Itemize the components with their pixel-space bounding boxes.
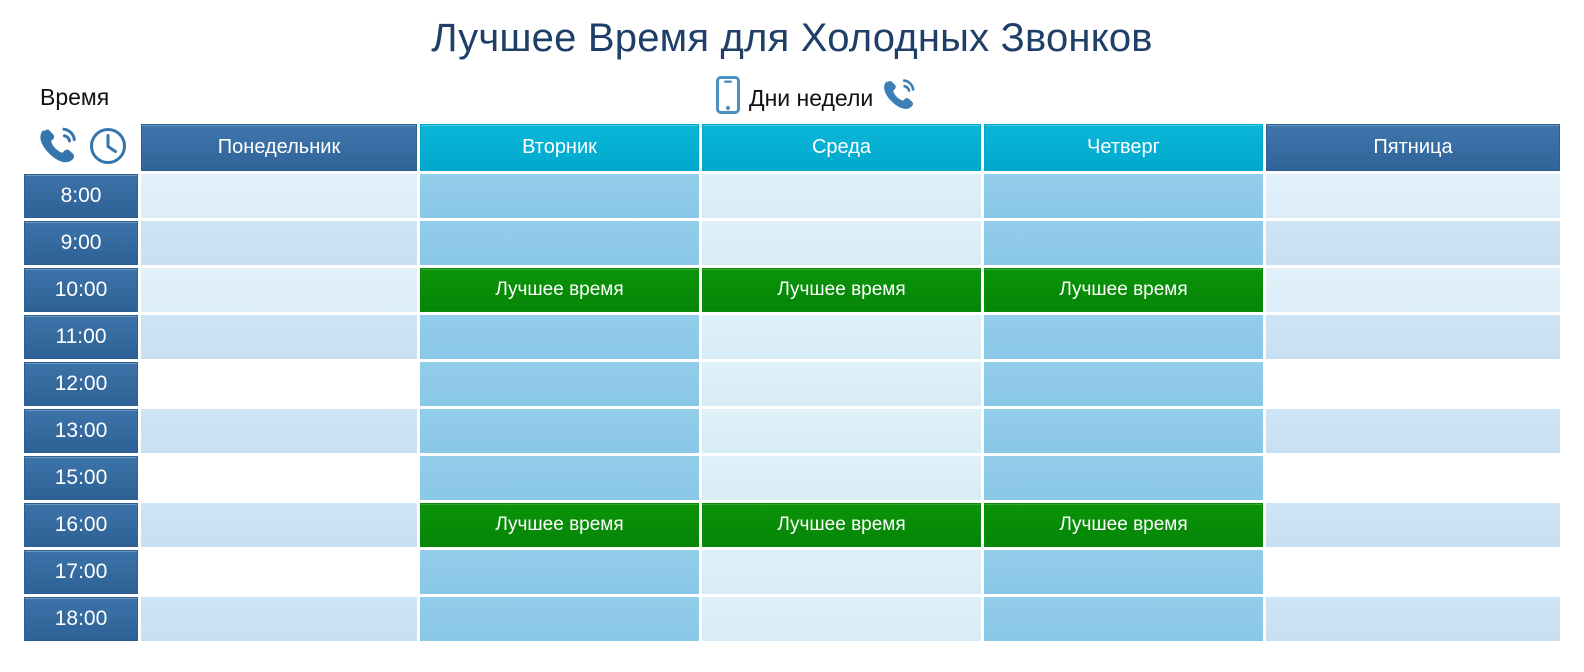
slot-friday-1500[interactable] <box>1266 456 1560 500</box>
slot-monday-1500[interactable] <box>141 456 417 500</box>
time-label-1700: 17:00 <box>24 550 138 594</box>
slot-friday-1700[interactable] <box>1266 550 1560 594</box>
slot-friday-1000[interactable] <box>1266 268 1560 312</box>
table-row: 10:00Лучшее времяЛучшее времяЛучшее врем… <box>24 268 1560 312</box>
time-label-1100: 11:00 <box>24 315 138 359</box>
column-header-monday[interactable]: Понедельник <box>141 124 417 171</box>
slot-wednesday-1200[interactable] <box>702 362 981 406</box>
time-label-1800: 18:00 <box>24 597 138 641</box>
slot-monday-1600[interactable] <box>141 503 417 547</box>
slot-thursday-1800[interactable] <box>984 597 1263 641</box>
table-row: 16:00Лучшее времяЛучшее времяЛучшее врем… <box>24 503 1560 547</box>
slot-tuesday-1500[interactable] <box>420 456 699 500</box>
slot-tuesday-1700[interactable] <box>420 550 699 594</box>
table-row: 18:00 <box>24 597 1560 641</box>
phone-ringing-icon <box>882 78 918 119</box>
slot-monday-900[interactable] <box>141 221 417 265</box>
schedule-grid: Понедельник Вторник Среда Четверг Пятниц… <box>24 124 1560 641</box>
slot-thursday-1700[interactable] <box>984 550 1263 594</box>
slot-tuesday-900[interactable] <box>420 221 699 265</box>
header-corner-cell <box>24 124 138 171</box>
mobile-phone-icon <box>716 76 740 121</box>
slot-wednesday-1800[interactable] <box>702 597 981 641</box>
slot-tuesday-1100[interactable] <box>420 315 699 359</box>
slot-thursday-1500[interactable] <box>984 456 1263 500</box>
time-label-1600: 16:00 <box>24 503 138 547</box>
slot-friday-1800[interactable] <box>1266 597 1560 641</box>
slot-monday-1700[interactable] <box>141 550 417 594</box>
table-row: 17:00 <box>24 550 1560 594</box>
slot-tuesday-800[interactable] <box>420 174 699 218</box>
table-row: 11:00 <box>24 315 1560 359</box>
table-row: 9:00 <box>24 221 1560 265</box>
slot-friday-900[interactable] <box>1266 221 1560 265</box>
slot-wednesday-1600[interactable]: Лучшее время <box>702 503 981 547</box>
table-row: 12:00 <box>24 362 1560 406</box>
slot-thursday-900[interactable] <box>984 221 1263 265</box>
slot-monday-1300[interactable] <box>141 409 417 453</box>
slot-wednesday-800[interactable] <box>702 174 981 218</box>
slot-friday-1200[interactable] <box>1266 362 1560 406</box>
time-label-1500: 15:00 <box>24 456 138 500</box>
time-label-1200: 12:00 <box>24 362 138 406</box>
slot-friday-1300[interactable] <box>1266 409 1560 453</box>
days-axis-caption-label: Дни недели <box>749 83 873 113</box>
slot-wednesday-900[interactable] <box>702 221 981 265</box>
table-row: 15:00 <box>24 456 1560 500</box>
slot-thursday-1600[interactable]: Лучшее время <box>984 503 1263 547</box>
time-label-800: 8:00 <box>24 174 138 218</box>
slot-wednesday-1300[interactable] <box>702 409 981 453</box>
days-axis-caption-group: Дни недели <box>716 78 918 118</box>
slot-monday-1200[interactable] <box>141 362 417 406</box>
column-header-thursday[interactable]: Четверг <box>984 124 1263 171</box>
slot-tuesday-1600[interactable]: Лучшее время <box>420 503 699 547</box>
slot-monday-1800[interactable] <box>141 597 417 641</box>
slot-friday-1100[interactable] <box>1266 315 1560 359</box>
slot-tuesday-1200[interactable] <box>420 362 699 406</box>
time-label-1300: 13:00 <box>24 409 138 453</box>
slot-wednesday-1700[interactable] <box>702 550 981 594</box>
time-axis-caption: Время <box>40 82 109 112</box>
slot-thursday-800[interactable] <box>984 174 1263 218</box>
column-header-friday[interactable]: Пятница <box>1266 124 1560 171</box>
slot-friday-1600[interactable] <box>1266 503 1560 547</box>
cold-calling-schedule-page: Лучшее Время для Холодных Звонков Время … <box>0 0 1584 672</box>
slot-thursday-1300[interactable] <box>984 409 1263 453</box>
slot-wednesday-1500[interactable] <box>702 456 981 500</box>
slot-monday-1000[interactable] <box>141 268 417 312</box>
slot-thursday-1000[interactable]: Лучшее время <box>984 268 1263 312</box>
table-row: 13:00 <box>24 409 1560 453</box>
slot-tuesday-1000[interactable]: Лучшее время <box>420 268 699 312</box>
time-label-1000: 10:00 <box>24 268 138 312</box>
time-label-900: 9:00 <box>24 221 138 265</box>
slot-wednesday-1000[interactable]: Лучшее время <box>702 268 981 312</box>
slot-friday-800[interactable] <box>1266 174 1560 218</box>
slot-thursday-1200[interactable] <box>984 362 1263 406</box>
slot-monday-800[interactable] <box>141 174 417 218</box>
page-title: Лучшее Время для Холодных Звонков <box>0 14 1584 62</box>
column-header-tuesday[interactable]: Вторник <box>420 124 699 171</box>
table-row: 8:00 <box>24 174 1560 218</box>
column-header-wednesday[interactable]: Среда <box>702 124 981 171</box>
slot-thursday-1100[interactable] <box>984 315 1263 359</box>
slot-monday-1100[interactable] <box>141 315 417 359</box>
slot-wednesday-1100[interactable] <box>702 315 981 359</box>
slot-tuesday-1800[interactable] <box>420 597 699 641</box>
slot-tuesday-1300[interactable] <box>420 409 699 453</box>
grid-header-row: Понедельник Вторник Среда Четверг Пятниц… <box>24 124 1560 171</box>
